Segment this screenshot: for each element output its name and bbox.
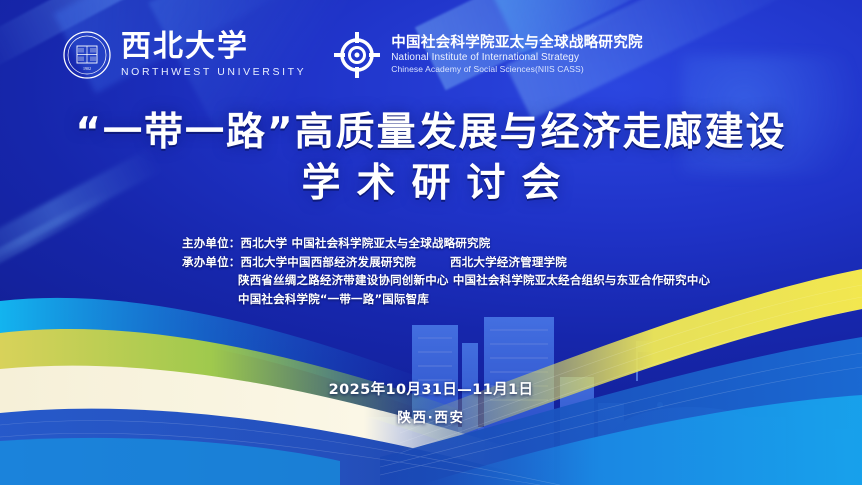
coorganizer-value-3: 中国社会科学院“一带一路”国际智库 [238,292,429,306]
host-label: 主办单位： [182,236,241,250]
conference-location: 陕西·西安 [0,406,862,426]
niis-target-emblem-icon [332,30,382,80]
coorganizer-value-1b: 西北大学经济管理学院 [450,255,567,269]
niis-name-en-line1: National Institute of International Stra… [391,52,643,65]
organizer-row-coorg-3: 中国社会科学院“一带一路”国际智库 [182,290,710,309]
university-seal-icon: 1902 [62,30,112,80]
organizer-row-coorg-2: 陕西省丝绸之路经济带建设协同创新中心 中国社会科学院亚太经合组织与东亚合作研究中… [182,271,710,290]
organizer-row-host: 主办单位：西北大学 中国社会科学院亚太与全球战略研究院 [182,234,710,253]
niis-name-cn: 中国社会科学院亚太与全球战略研究院 [391,35,643,52]
footer-block: 2025年10月31日—11月1日 陕西·西安 [0,378,862,426]
conference-title-line1: “一带一路”高质量发展与经济走廊建设 [0,110,862,156]
conference-date: 2025年10月31日—11月1日 [0,378,862,399]
coorganizer-label: 承办单位： [182,255,241,269]
conference-banner: 1902 西北大学 NORTHWEST UNIVERSITY 中国社会科学院亚太… [0,0,862,485]
logo-northwest-university: 1902 西北大学 NORTHWEST UNIVERSITY [62,30,306,80]
conference-title-line2: 学术研讨会 [0,160,862,209]
niis-name-en-line2: Chinese Academy of Social Sciences(NIIS … [391,64,643,75]
logo-row: 1902 西北大学 NORTHWEST UNIVERSITY 中国社会科学院亚太… [62,30,643,80]
coorganizer-value-2b: 中国社会科学院亚太经合组织与东亚合作研究中心 [453,273,710,287]
coorganizer-value-1a: 西北大学中国西部经济发展研究院 [241,255,417,269]
nwu-name-en: NORTHWEST UNIVERSITY [121,66,306,78]
title-block: “一带一路”高质量发展与经济走廊建设 学术研讨会 [0,110,862,209]
nwu-name-cn: 西北大学 [121,32,306,62]
svg-text:1902: 1902 [83,66,91,71]
coorganizer-value-2a: 陕西省丝绸之路经济带建设协同创新中心 [238,273,449,287]
organizers-block: 主办单位：西北大学 中国社会科学院亚太与全球战略研究院 承办单位：西北大学中国西… [182,234,710,309]
host-value: 西北大学 中国社会科学院亚太与全球战略研究院 [241,236,491,250]
organizer-row-coorg-1: 承办单位：西北大学中国西部经济发展研究院西北大学经济管理学院 [182,253,710,272]
logo-niis-cass: 中国社会科学院亚太与全球战略研究院 National Institute of … [332,30,643,80]
